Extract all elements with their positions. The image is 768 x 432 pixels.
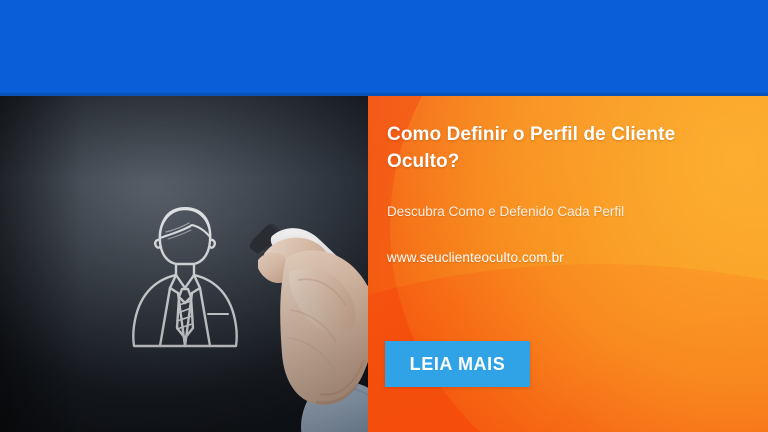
promo-banner: seu cliente oculto [0, 0, 768, 432]
header-bar [0, 0, 768, 96]
hero-photo [0, 96, 378, 432]
website-url: www.seuclienteoculto.com.br [387, 223, 717, 267]
photo-vignette [0, 96, 378, 432]
read-more-button[interactable]: LEIA MAIS [385, 341, 530, 387]
page-title: Como Definir o Perfil de Cliente Oculto? [387, 96, 687, 176]
panel-content: Como Definir o Perfil de Cliente Oculto?… [387, 96, 717, 266]
promo-panel: Como Definir o Perfil de Cliente Oculto?… [368, 96, 768, 432]
panel-subtitle: Descubra Como e Defenido Cada Perfil [387, 176, 691, 223]
